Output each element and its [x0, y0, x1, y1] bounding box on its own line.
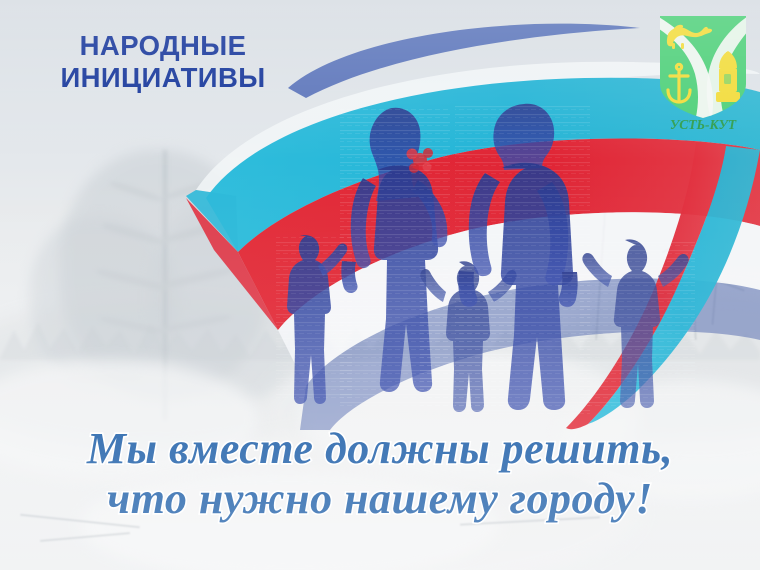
- народные-инициативы-poster: НАРОДНЫЕ ИНИЦИАТИВЫ: [0, 0, 760, 570]
- ust-kut-coat-of-arms: УСТЬ-КУТ: [655, 12, 751, 130]
- page-title: НАРОДНЫЕ ИНИЦИАТИВЫ: [18, 30, 308, 94]
- child-right-silhouette: [580, 239, 695, 410]
- emblem-caption: УСТЬ-КУТ: [670, 117, 737, 130]
- headline-line-1: НАРОДНЫЕ: [18, 30, 308, 62]
- slogan-line-1: Мы вместе должны решить,: [0, 424, 760, 474]
- headline-line-2: ИНИЦИАТИВЫ: [18, 62, 308, 94]
- slogan: Мы вместе должны решить, что нужно нашем…: [0, 424, 760, 524]
- slogan-line-2: что нужно нашему городу!: [0, 474, 760, 524]
- father-silhouette: [455, 104, 590, 414]
